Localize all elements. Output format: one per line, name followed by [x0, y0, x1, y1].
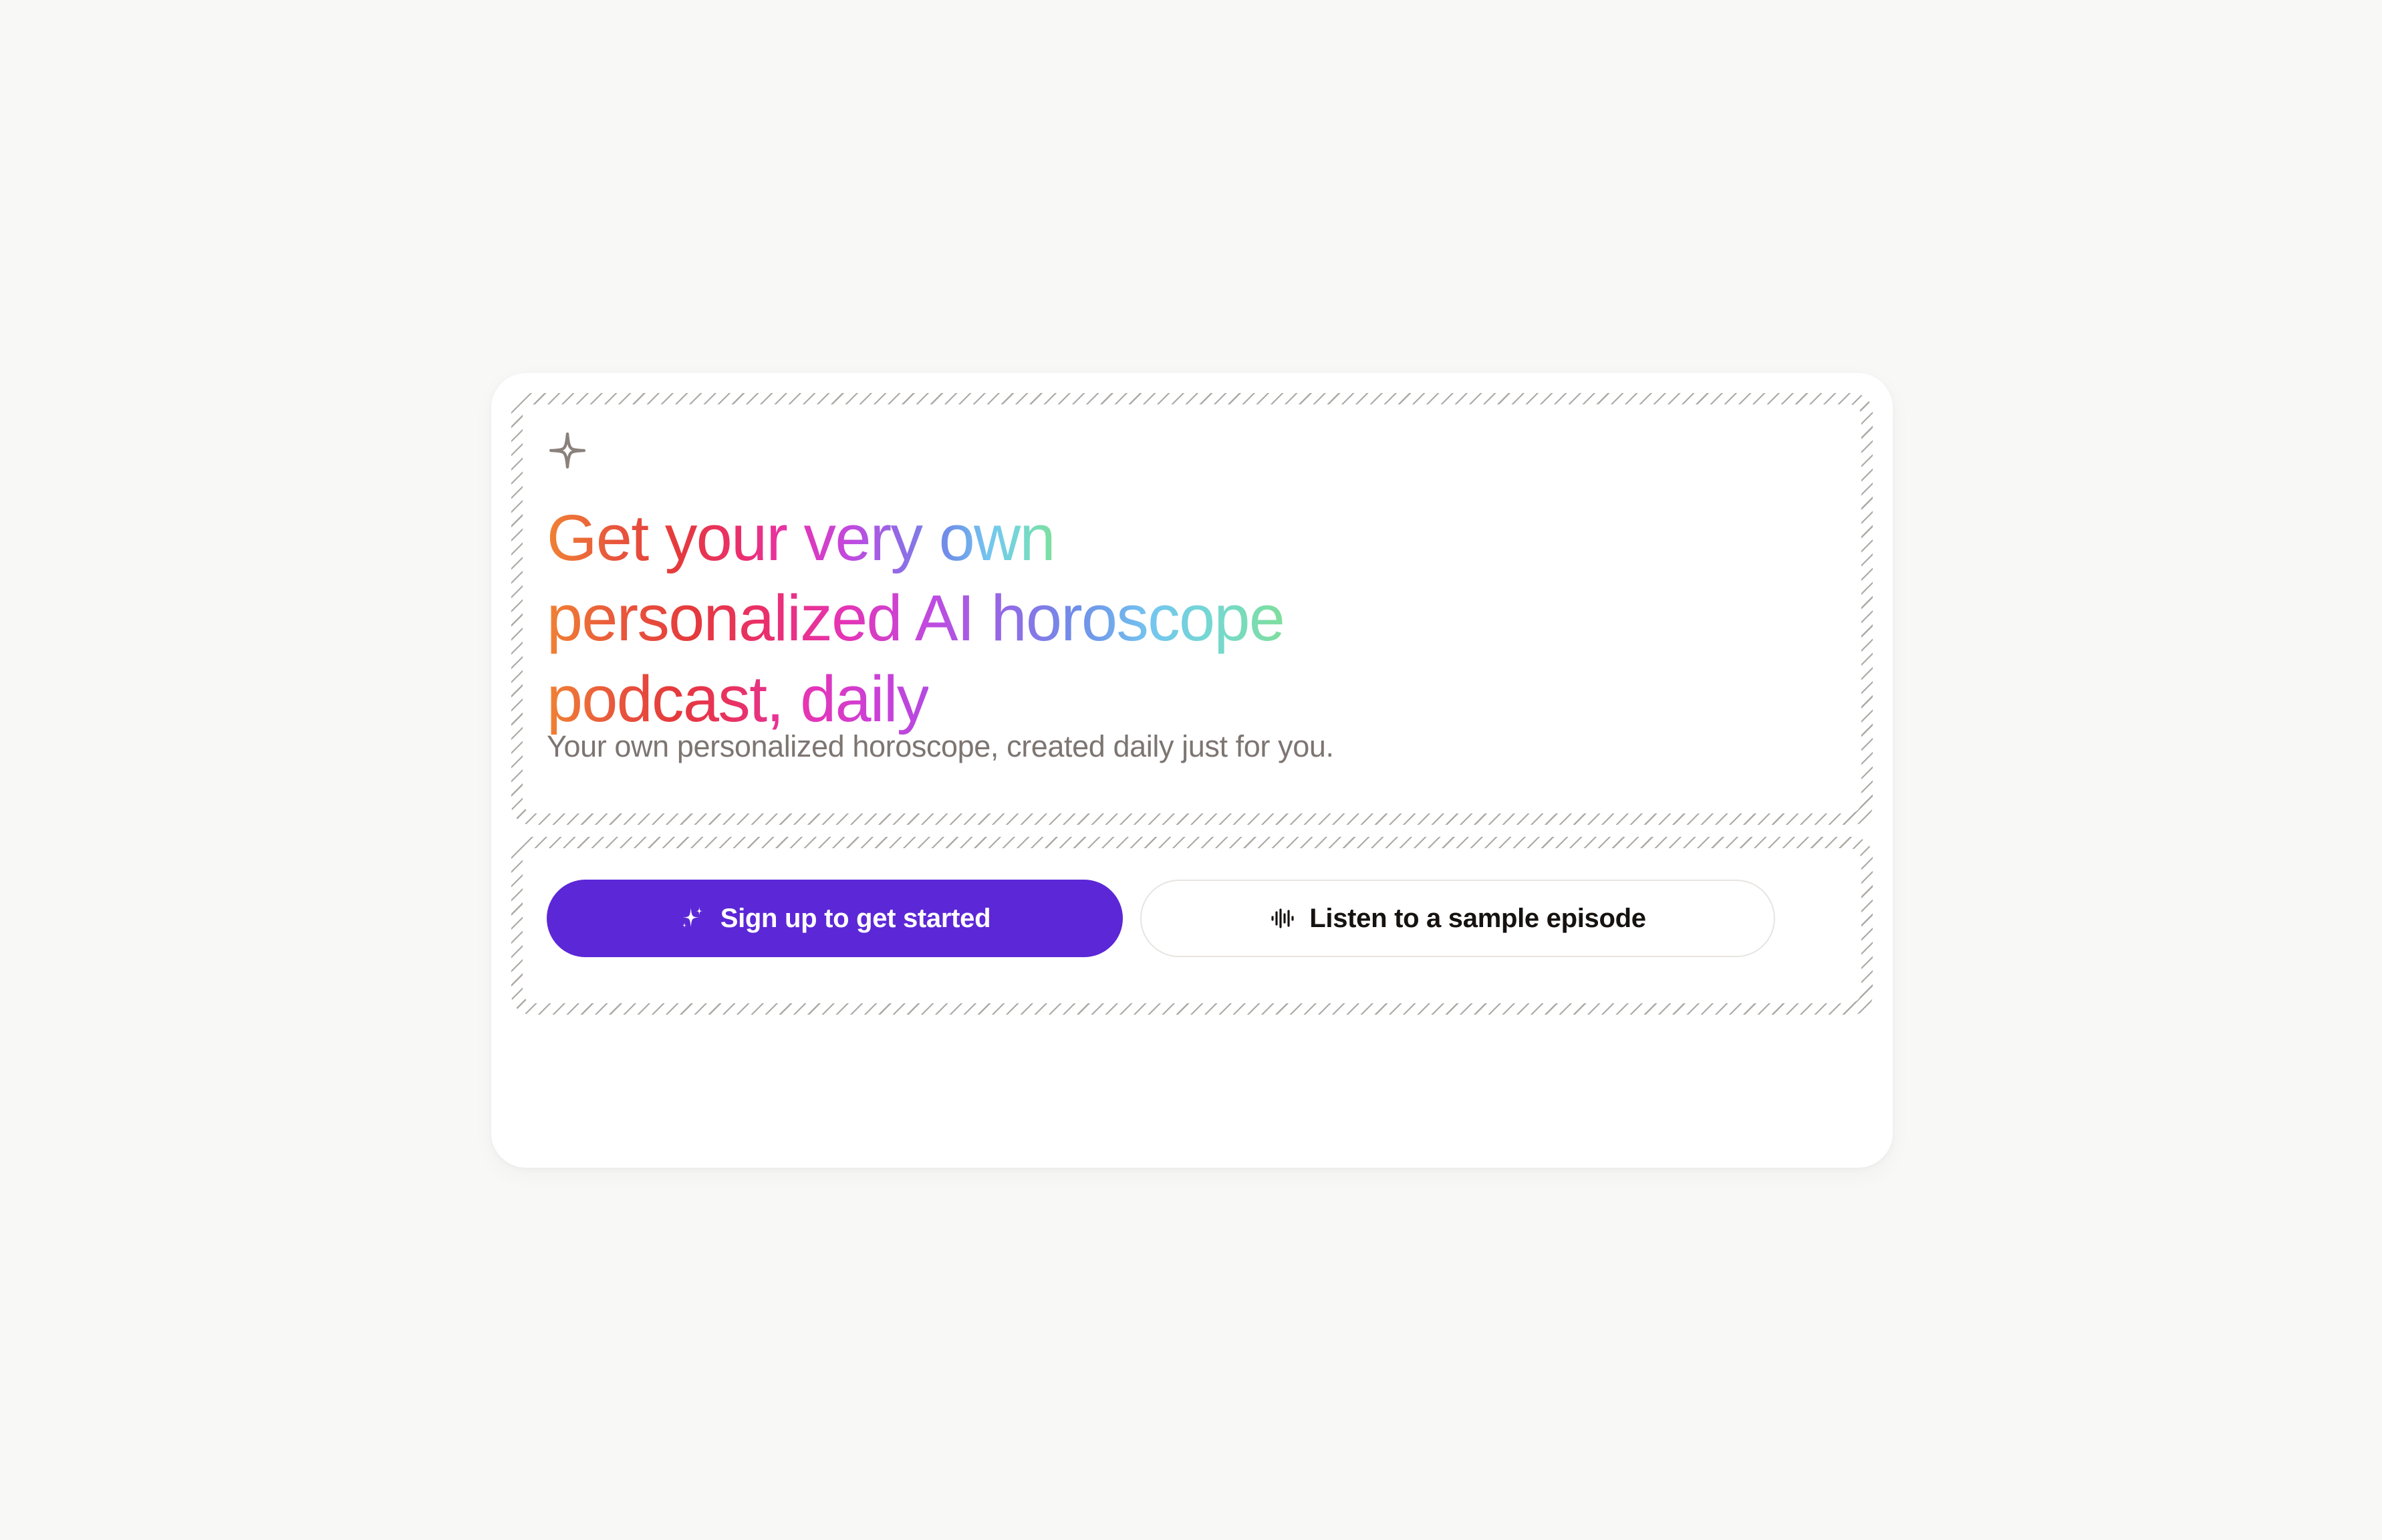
- hero-text-panel: Get your very ownpersonalized AI horosco…: [511, 393, 1873, 825]
- hero-heading-line-2: personalized AI horoscope: [547, 578, 1284, 658]
- hero-subtitle: Your own personalized horoscope, created…: [547, 725, 1334, 767]
- listen-sample-button-label: Listen to a sample episode: [1309, 904, 1645, 934]
- sign-up-button[interactable]: Sign up to get started: [547, 880, 1123, 957]
- hero-card: Get your very ownpersonalized AI horosco…: [491, 373, 1893, 1168]
- hero-actions-panel: Sign up to get started: [511, 837, 1873, 1015]
- hero-action-row: Sign up to get started: [547, 880, 1775, 957]
- hero-heading: Get your very ownpersonalized AI horosco…: [547, 498, 1723, 739]
- sparkles-icon: [679, 904, 707, 932]
- listen-sample-button[interactable]: Listen to a sample episode: [1140, 880, 1775, 957]
- hero-actions-content: Sign up to get started: [523, 848, 1861, 1003]
- four-point-star-icon: [547, 430, 588, 471]
- hero-text-content: Get your very ownpersonalized AI horosco…: [523, 404, 1861, 813]
- audio-waveform-icon: [1269, 905, 1296, 932]
- sign-up-button-label: Sign up to get started: [720, 904, 991, 934]
- page-root: Get your very ownpersonalized AI horosco…: [0, 0, 2382, 1540]
- hero-heading-line-1: Get your very own: [547, 498, 1055, 578]
